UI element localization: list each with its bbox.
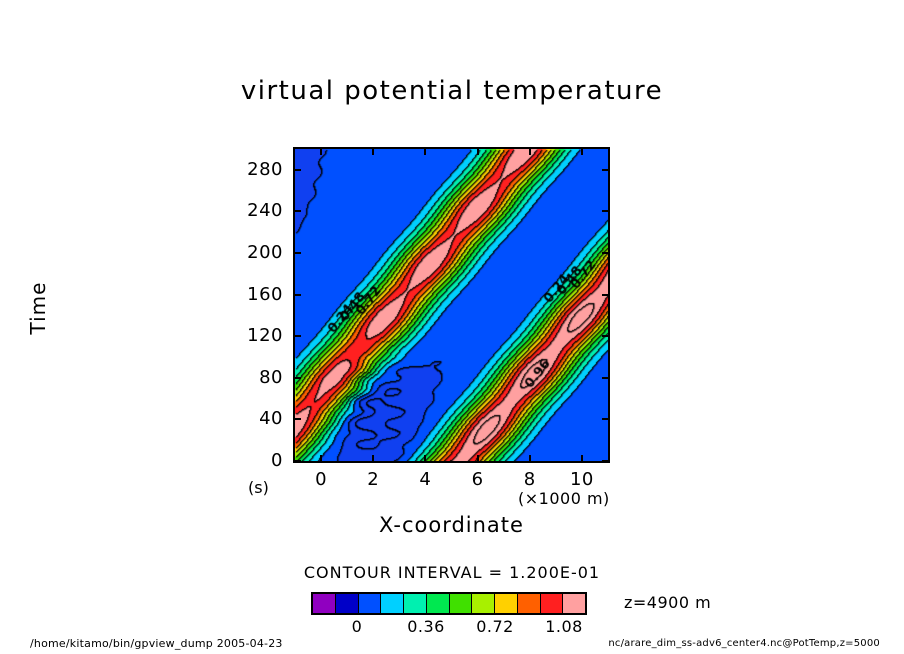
x-tick-label: 6	[455, 469, 501, 490]
x-tick-mark-top	[320, 147, 322, 155]
y-tick-mark-right	[602, 335, 610, 337]
x-tick-mark	[372, 455, 374, 463]
x-tick-mark	[320, 455, 322, 463]
footer-right-source: nc/arare_dim_ss-adv6_center4.nc@PotTemp,…	[608, 638, 880, 649]
y-tick-mark	[293, 252, 301, 254]
y-tick-label: 40	[237, 408, 283, 429]
y-tick-mark-right	[602, 252, 610, 254]
colorbar-tick-label: 0.72	[465, 617, 525, 636]
colorbar-swatch	[313, 594, 336, 613]
contour-plot-area	[293, 147, 610, 463]
x-tick-mark	[477, 455, 479, 463]
footer-left-path: /home/kitamo/bin/gpview_dump 2005-04-23	[30, 637, 283, 650]
x-axis-unit: (×1000 m)	[518, 489, 610, 508]
x-tick-mark-top	[581, 147, 583, 155]
colorbar-swatch	[427, 594, 450, 613]
y-tick-label: 280	[237, 159, 283, 180]
x-tick-mark-top	[477, 147, 479, 155]
x-axis-label: X-coordinate	[293, 513, 610, 537]
x-tick-label: 10	[559, 469, 605, 490]
y-tick-mark-right	[602, 377, 610, 379]
colorbar	[311, 592, 587, 615]
x-tick-mark	[581, 455, 583, 463]
y-tick-mark	[293, 210, 301, 212]
colorbar-tick-label: 0	[327, 617, 387, 636]
page-title: virtual potential temperature	[0, 76, 904, 106]
y-tick-label: 120	[237, 325, 283, 346]
x-tick-mark	[424, 455, 426, 463]
colorbar-swatch	[404, 594, 427, 613]
x-tick-label: 8	[507, 469, 553, 490]
x-tick-mark	[529, 455, 531, 463]
y-tick-label: 240	[237, 200, 283, 221]
colorbar-tick-label: 0.36	[396, 617, 456, 636]
y-tick-mark	[293, 335, 301, 337]
colorbar-swatch	[450, 594, 473, 613]
x-tick-mark-top	[529, 147, 531, 155]
y-tick-mark	[293, 377, 301, 379]
x-tick-label: 0	[298, 469, 344, 490]
y-tick-label: 80	[237, 367, 283, 388]
y-tick-label: 200	[237, 242, 283, 263]
colorbar-swatch	[563, 594, 585, 613]
y-tick-mark	[293, 294, 301, 296]
y-tick-mark-right	[602, 418, 610, 420]
y-tick-mark	[293, 460, 301, 462]
contour-canvas	[295, 149, 608, 461]
x-tick-mark-top	[372, 147, 374, 155]
x-tick-label: 2	[350, 469, 396, 490]
colorbar-tick-label: 1.08	[534, 617, 594, 636]
y-tick-mark-right	[602, 169, 610, 171]
y-tick-label: 160	[237, 284, 283, 305]
colorbar-swatch	[336, 594, 359, 613]
y-tick-mark	[293, 418, 301, 420]
y-tick-mark-right	[602, 294, 610, 296]
x-tick-mark-top	[424, 147, 426, 155]
colorbar-swatch	[495, 594, 518, 613]
colorbar-swatch	[518, 594, 541, 613]
contour-interval-text: CONTOUR INTERVAL = 1.200E-01	[0, 563, 904, 582]
y-tick-label: 0	[237, 450, 283, 471]
y-axis-label: Time	[26, 248, 50, 368]
x-tick-label: 4	[402, 469, 448, 490]
y-axis-unit: (s)	[248, 478, 269, 497]
y-tick-mark-right	[602, 460, 610, 462]
y-tick-mark	[293, 169, 301, 171]
colorbar-swatch	[541, 594, 564, 613]
colorbar-swatch	[359, 594, 382, 613]
z-level-label: z=4900 m	[624, 593, 711, 612]
colorbar-swatch	[472, 594, 495, 613]
colorbar-swatch	[381, 594, 404, 613]
y-tick-mark-right	[602, 210, 610, 212]
